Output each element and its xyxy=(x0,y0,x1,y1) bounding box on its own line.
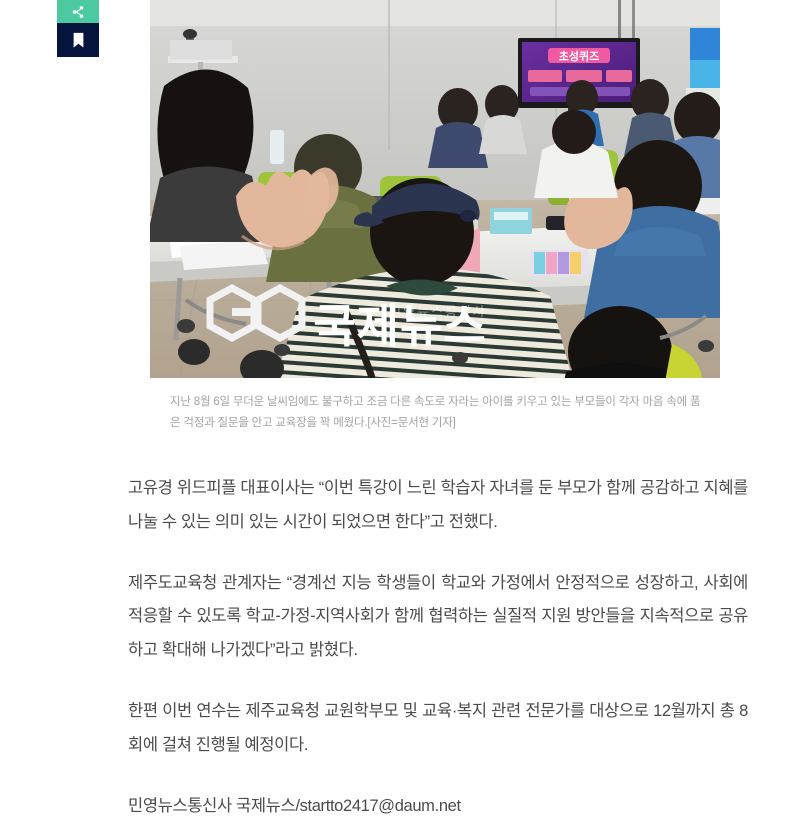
svg-text:국제뉴스: 국제뉴스 xyxy=(313,299,486,353)
paragraph-1: 고유경 위드피플 대표이사는 “이번 특강이 느린 학습자 자녀를 둔 부모가 … xyxy=(128,472,748,540)
side-action-rail xyxy=(57,0,99,57)
paragraph-2: 제주도교육청 관계자는 “경계선 지능 학생들이 학교와 가정에서 안정적으로 … xyxy=(128,567,748,668)
bookmark-button[interactable] xyxy=(57,23,99,57)
article-text: 고유경 위드피플 대표이사는 “이번 특강이 느린 학습자 자녀를 둔 부모가 … xyxy=(128,472,748,824)
paragraph-3: 한편 이번 연수는 제주교육청 교원학부모 및 교육·복지 관련 전문가를 대상… xyxy=(128,695,748,763)
svg-text:초성퀴즈: 초성퀴즈 xyxy=(559,49,599,63)
figure-caption: 지난 8월 6일 무더운 날씨임에도 불구하고 조금 다른 속도로 자라는 아이… xyxy=(150,392,720,435)
article-byline: 민영뉴스통신사 국제뉴스/startto2417@daum.net xyxy=(128,790,748,824)
bookmark-icon xyxy=(72,32,85,49)
article-figure: 초성퀴즈 xyxy=(150,0,720,435)
article-photo: 초성퀴즈 xyxy=(150,0,720,378)
share-button[interactable] xyxy=(57,0,99,23)
share-icon xyxy=(71,5,85,19)
